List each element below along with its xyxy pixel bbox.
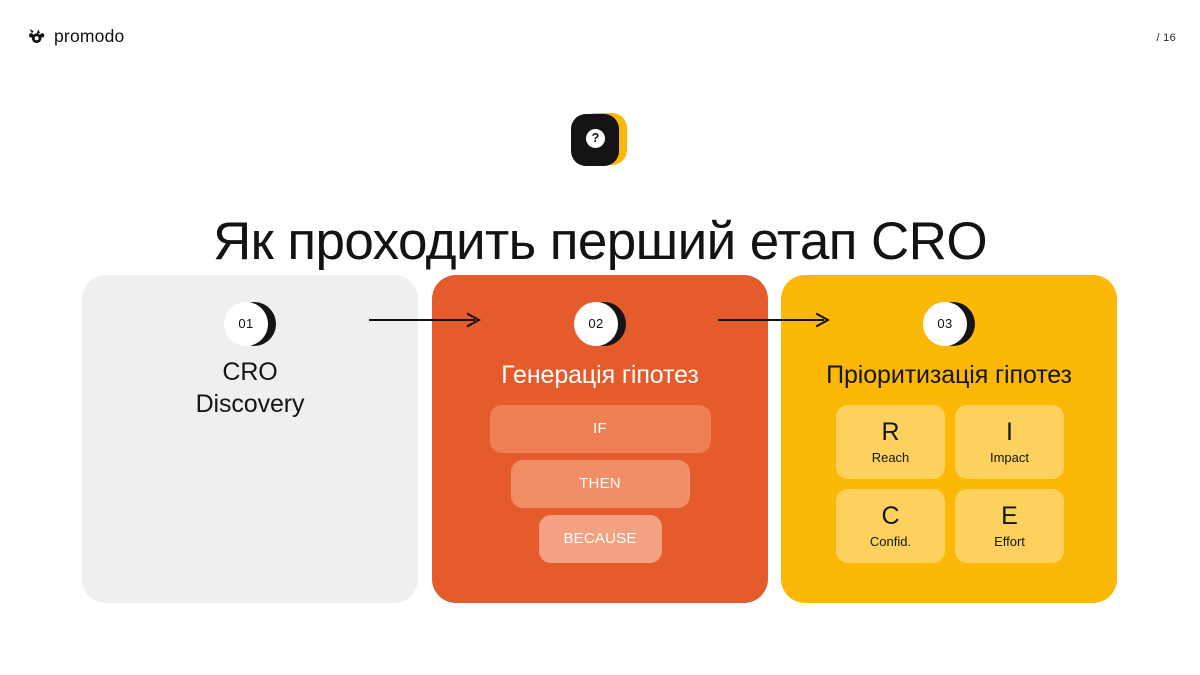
hero-question-badge: ? — [571, 113, 627, 167]
stage-number-badge-1: 01 — [224, 302, 276, 346]
stage-card-1-title-line2: Discovery — [82, 388, 418, 420]
pill-if[interactable]: IF — [490, 405, 711, 453]
rice-tile-impact-letter: I — [1006, 420, 1013, 445]
brand-logo[interactable]: promodo — [27, 27, 124, 46]
badge-number: 03 — [923, 302, 967, 346]
question-mark-icon: ? — [586, 129, 605, 148]
arrow-card1-to-card2 — [369, 312, 481, 328]
badge-number: 01 — [224, 302, 268, 346]
rice-tile-effort-letter: E — [1001, 504, 1018, 529]
stage-card-1[interactable]: 01 CRO Discovery — [82, 275, 418, 603]
rice-tile-confidence-word: Confid. — [870, 535, 911, 548]
top-bar: promodo / 16 — [0, 0, 1200, 74]
page-number: / 16 — [1156, 32, 1176, 44]
rice-tile-confidence[interactable]: C Confid. — [836, 489, 945, 563]
promodo-bug-icon — [27, 27, 46, 46]
rice-tile-impact-word: Impact — [990, 451, 1029, 464]
rice-framework-grid: R Reach I Impact C Confid. E Effort — [836, 405, 1064, 563]
rice-tile-effort[interactable]: E Effort — [955, 489, 1064, 563]
rice-tile-confidence-letter: C — [881, 504, 899, 529]
stage-card-3[interactable]: 03 Пріоритизація гіпотез R Reach I Impac… — [781, 275, 1117, 603]
rice-tile-reach-letter: R — [881, 420, 899, 445]
rice-tile-reach[interactable]: R Reach — [836, 405, 945, 479]
hypothesis-formula-pills: IF THEN BECAUSE — [432, 405, 768, 570]
stage-card-row: 01 CRO Discovery 02 Генерація гіпотез IF… — [82, 275, 1118, 603]
arrow-card2-to-card3 — [718, 312, 830, 328]
rice-tile-impact[interactable]: I Impact — [955, 405, 1064, 479]
rice-tile-reach-word: Reach — [872, 451, 910, 464]
stage-number-badge-2: 02 — [574, 302, 626, 346]
rice-tile-effort-word: Effort — [994, 535, 1025, 548]
stage-card-2-title: Генерація гіпотез — [432, 359, 768, 391]
badge-number: 02 — [574, 302, 618, 346]
stage-card-3-title: Пріоритизація гіпотез — [781, 359, 1117, 391]
stage-card-1-title-line1: CRO — [82, 356, 418, 388]
brand-name: promodo — [54, 28, 124, 46]
stage-number-badge-3: 03 — [923, 302, 975, 346]
pill-then[interactable]: THEN — [511, 460, 690, 508]
slide-title: Як проходить перший етап CRO — [0, 212, 1200, 271]
pill-because[interactable]: BECAUSE — [539, 515, 662, 563]
stage-card-1-title: CRO Discovery — [82, 356, 418, 420]
